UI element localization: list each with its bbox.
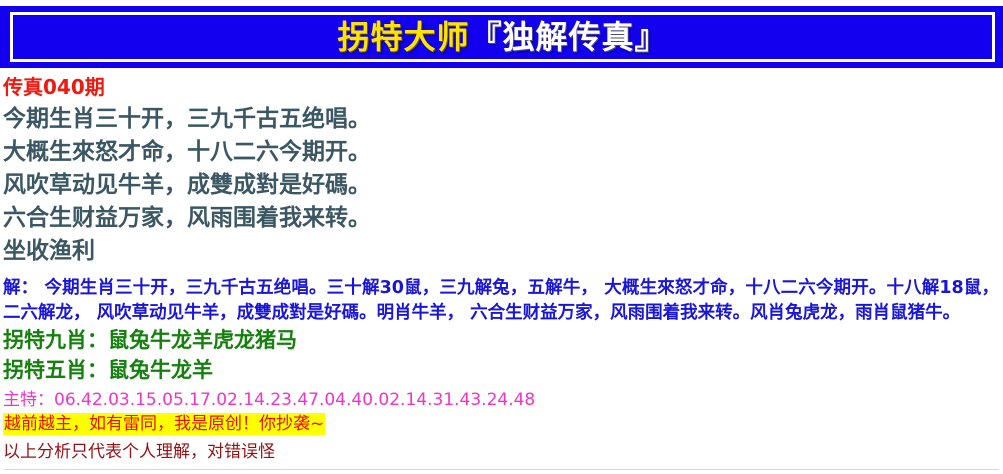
picks-row-nine: 拐特九肖：鼠兔牛龙羊虎龙猪马 — [0, 326, 1003, 356]
page-root: 拐特大师『独解传真』 传真040期 今期生肖三十开，三九千古五绝唱。 大概生來怒… — [0, 0, 1003, 474]
title-banner: 拐特大师『独解传真』 — [0, 6, 1003, 68]
page-title: 拐特大师『独解传真』 — [13, 21, 992, 53]
explanation-paragraph: 解： 今期生肖三十开，三九千古五绝唱。三十解30鼠，三九解兔，五解牛， 大概生來… — [0, 269, 1003, 327]
picks-row-five: 拐特五肖：鼠兔牛龙羊 — [0, 356, 1003, 386]
poem-line: 六合生财益万家，风雨围着我来转。 — [3, 202, 1003, 235]
poem-line: 今期生肖三十开，三九千古五绝唱。 — [3, 103, 1003, 136]
numbers-value: 06.42.03.15.05.17.02.14.23.47.04.40.02.1… — [54, 390, 535, 410]
picks-label-five: 拐特五肖： — [3, 358, 108, 382]
poem-line: 大概生來怒才命，十八二六今期开。 — [3, 136, 1003, 169]
banner-inner-border: 拐特大师『独解传真』 — [10, 12, 995, 62]
numbers-row: 主特：06.42.03.15.05.17.02.14.23.47.04.40.0… — [0, 386, 1003, 411]
issue-heading: 传真040期 — [0, 72, 1003, 103]
poem-block: 今期生肖三十开，三九千古五绝唱。 大概生來怒才命，十八二六今期开。 风吹草动见牛… — [0, 103, 1003, 269]
disclaimer-footnote: 以上分析只代表个人理解，对错误怪 — [0, 435, 1003, 464]
poem-line: 坐收渔利 — [3, 235, 1003, 268]
page-title-white: 『独解传真』 — [470, 18, 668, 56]
picks-label-nine: 拐特九肖： — [3, 328, 108, 352]
poem-line: 风吹草动见牛羊，成雙成對是好碼。 — [3, 169, 1003, 202]
content-area: 传真040期 今期生肖三十开，三九千古五绝唱。 大概生來怒才命，十八二六今期开。… — [0, 72, 1003, 464]
picks-value-five: 鼠兔牛龙羊 — [108, 358, 213, 382]
bottom-divider — [4, 469, 999, 470]
page-title-gold: 拐特大师 — [337, 18, 469, 56]
copyright-notice-text: 越前越主，如有雷同，我是原创！你抄袭~ — [3, 413, 325, 435]
picks-value-nine: 鼠兔牛龙羊虎龙猪马 — [108, 328, 297, 352]
numbers-label: 主特： — [3, 390, 54, 410]
copyright-notice: 越前越主，如有雷同，我是原创！你抄袭~ — [0, 411, 1003, 435]
